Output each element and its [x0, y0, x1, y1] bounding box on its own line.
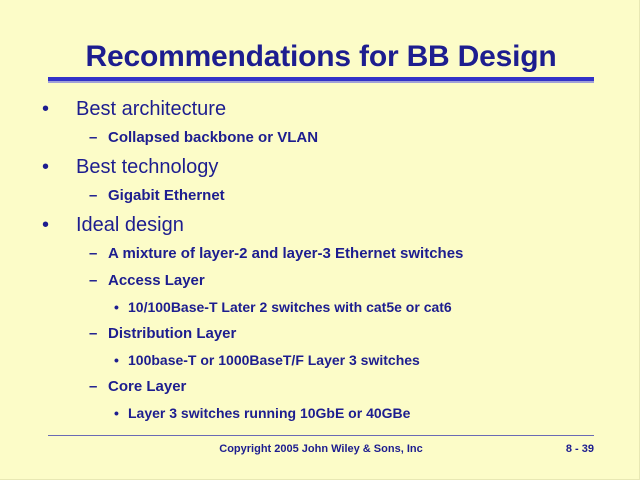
bullet-text: Distribution Layer [108, 323, 640, 345]
dash-marker-icon: – [89, 185, 97, 207]
bullet-item-level-2: –Gigabit Ethernet [0, 185, 640, 212]
bullet-text: 100base-T or 1000BaseT/F Layer 3 switche… [128, 350, 640, 371]
bullet-text: Gigabit Ethernet [108, 185, 640, 207]
bullet-dot-icon: • [114, 350, 119, 371]
slide-canvas: Recommendations for BB Design •Best arch… [0, 0, 640, 480]
bullet-text: 10/100Base-T Later 2 switches with cat5e… [128, 297, 640, 318]
bullet-item-level-3: •10/100Base-T Later 2 switches with cat5… [0, 297, 640, 323]
footer-divider [48, 435, 594, 436]
bullet-item-level-2: –Core Layer [0, 376, 640, 403]
bullet-item-level-1: •Best architecture [0, 96, 640, 127]
bullet-item-level-2: –Access Layer [0, 270, 640, 297]
footer-copyright: Copyright 2005 John Wiley & Sons, Inc [48, 441, 594, 457]
title-block: Recommendations for BB Design [48, 40, 594, 81]
bullet-item-level-3: •100base-T or 1000BaseT/F Layer 3 switch… [0, 350, 640, 376]
footer: Copyright 2005 John Wiley & Sons, Inc 8 … [48, 441, 594, 459]
bullet-item-level-1: •Ideal design [0, 212, 640, 243]
bullet-dot-icon: • [114, 297, 119, 318]
page-title: Recommendations for BB Design [48, 40, 594, 74]
bullet-item-level-3: •Layer 3 switches running 10GbE or 40GBe [0, 403, 640, 429]
dash-marker-icon: – [89, 323, 97, 345]
bullet-text: Best technology [76, 154, 640, 180]
bullet-item-level-1: •Best technology [0, 154, 640, 185]
dash-marker-icon: – [89, 376, 97, 398]
bullet-dot-icon: • [42, 154, 49, 180]
bullet-text: Best architecture [76, 96, 640, 122]
bullet-text: Layer 3 switches running 10GbE or 40GBe [128, 403, 640, 424]
bullet-item-level-2: –A mixture of layer-2 and layer-3 Ethern… [0, 243, 640, 270]
footer-page-number: 8 - 39 [566, 441, 594, 457]
bullet-text: A mixture of layer-2 and layer-3 Etherne… [108, 243, 640, 265]
bullet-dot-icon: • [114, 403, 119, 424]
bullet-list: •Best architecture–Collapsed backbone or… [0, 96, 640, 429]
bullet-dot-icon: • [42, 96, 49, 122]
bullet-item-level-2: –Distribution Layer [0, 323, 640, 350]
bullet-text: Access Layer [108, 270, 640, 292]
bullet-text: Ideal design [76, 212, 640, 238]
title-underline-rule [48, 77, 594, 81]
dash-marker-icon: – [89, 270, 97, 292]
bullet-text: Collapsed backbone or VLAN [108, 127, 640, 149]
dash-marker-icon: – [89, 243, 97, 265]
dash-marker-icon: – [89, 127, 97, 149]
bullet-item-level-2: –Collapsed backbone or VLAN [0, 127, 640, 154]
bullet-dot-icon: • [42, 212, 49, 238]
bullet-text: Core Layer [108, 376, 640, 398]
